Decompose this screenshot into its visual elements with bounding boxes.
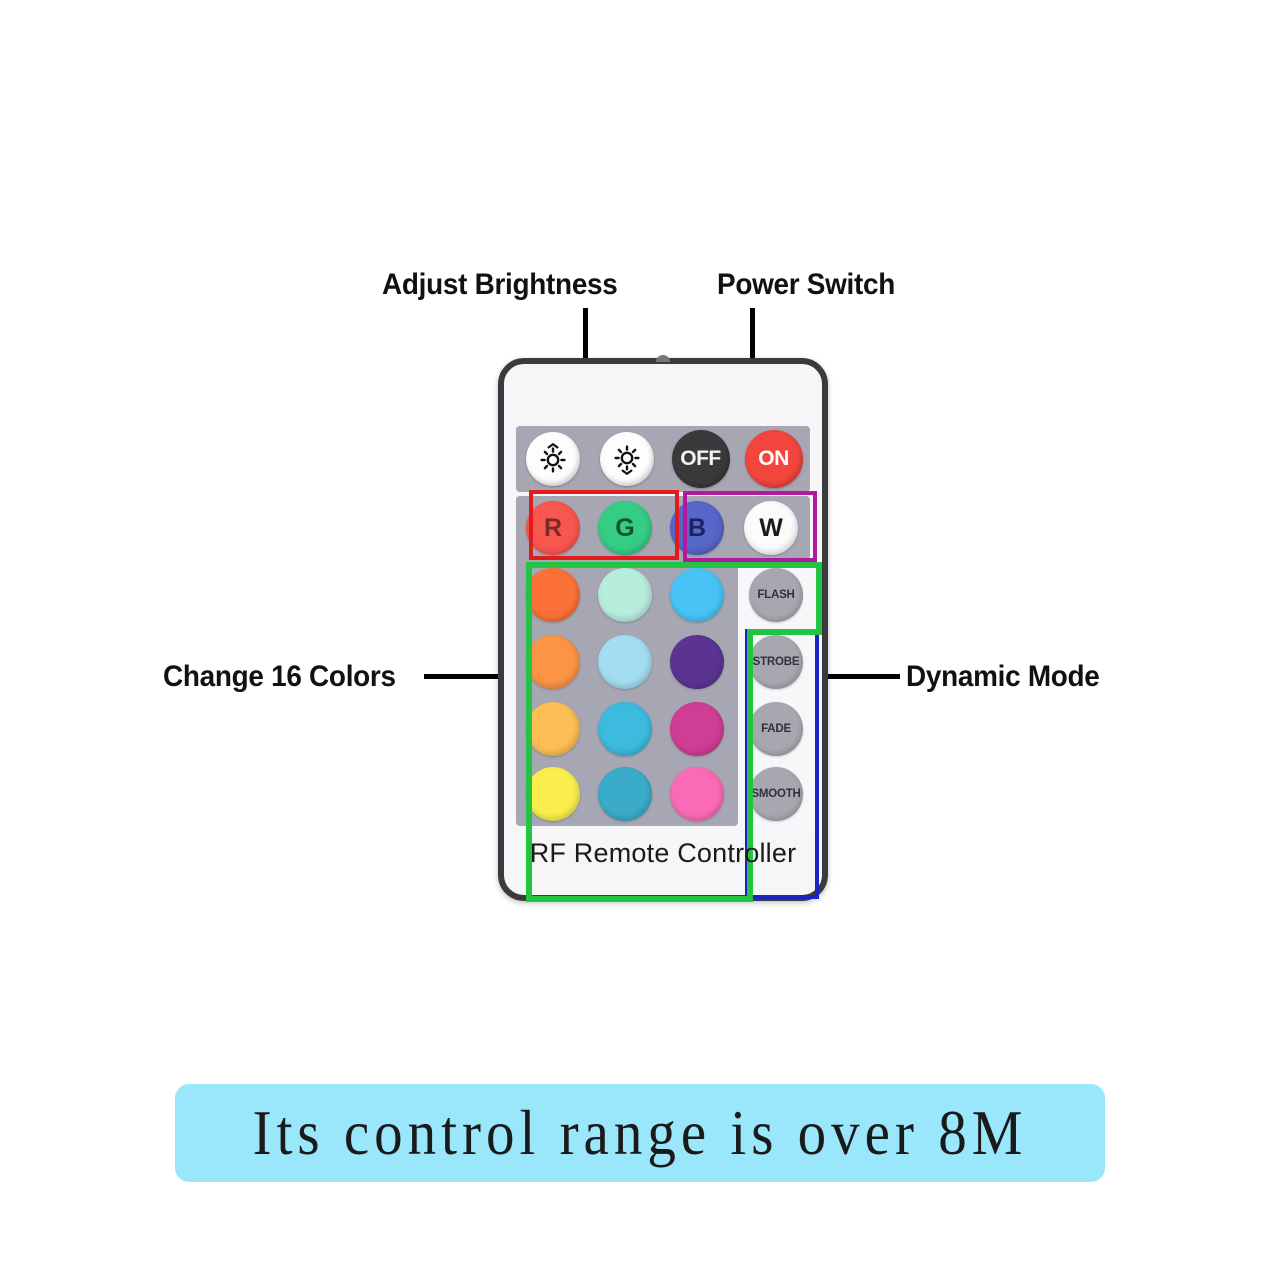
top-button-row: OFF ON [516,426,810,492]
sun-down-icon [610,442,644,476]
callout-change-16-colors: Change 16 Colors [163,660,396,694]
sun-up-icon [536,442,570,476]
screenshot-canvas: Adjust Brightness Power Switch Change 16… [0,0,1280,1280]
callout-dynamic-mode: Dynamic Mode [906,660,1100,694]
range-banner: Its control range is over 8M [175,1084,1105,1182]
remote-footer-label: RF Remote Controller [504,838,822,869]
callout-adjust-brightness: Adjust Brightness [382,268,618,302]
power-group: OFF ON [664,426,810,492]
brightness-up-button[interactable] [526,432,580,486]
range-banner-text: Its control range is over 8M [253,1097,1028,1170]
brightness-down-button[interactable] [600,432,654,486]
rf-remote-controller: OFF ON R G B W [498,358,828,901]
remote-keypad: OFF ON R G B W [516,426,810,826]
callout-power-switch: Power Switch [717,268,895,302]
power-on-button[interactable]: ON [745,430,803,488]
brightness-group [516,426,664,492]
power-off-button[interactable]: OFF [672,430,730,488]
annotation-box-power [683,491,817,562]
annotation-box-brightness [529,490,679,560]
ir-emitter-bump [656,355,670,362]
